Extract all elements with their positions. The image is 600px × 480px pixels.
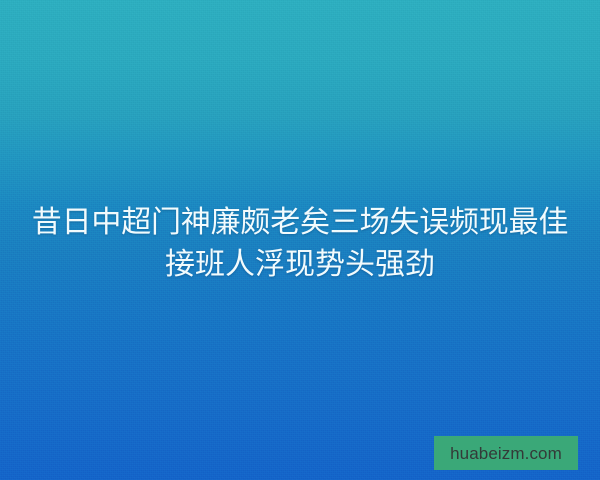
headline-line-1: 昔日中超门神廉颇老矣三场失误频现最佳 — [0, 202, 600, 244]
poster-canvas: 昔日中超门神廉颇老矣三场失误频现最佳 接班人浮现势头强劲 huabeizm.co… — [0, 0, 600, 480]
watermark-badge: huabeizm.com — [434, 436, 578, 470]
headline-text: 昔日中超门神廉颇老矣三场失误频现最佳 接班人浮现势头强劲 — [0, 202, 600, 286]
headline-line-2: 接班人浮现势头强劲 — [0, 244, 600, 286]
watermark-label: huabeizm.com — [450, 445, 562, 462]
